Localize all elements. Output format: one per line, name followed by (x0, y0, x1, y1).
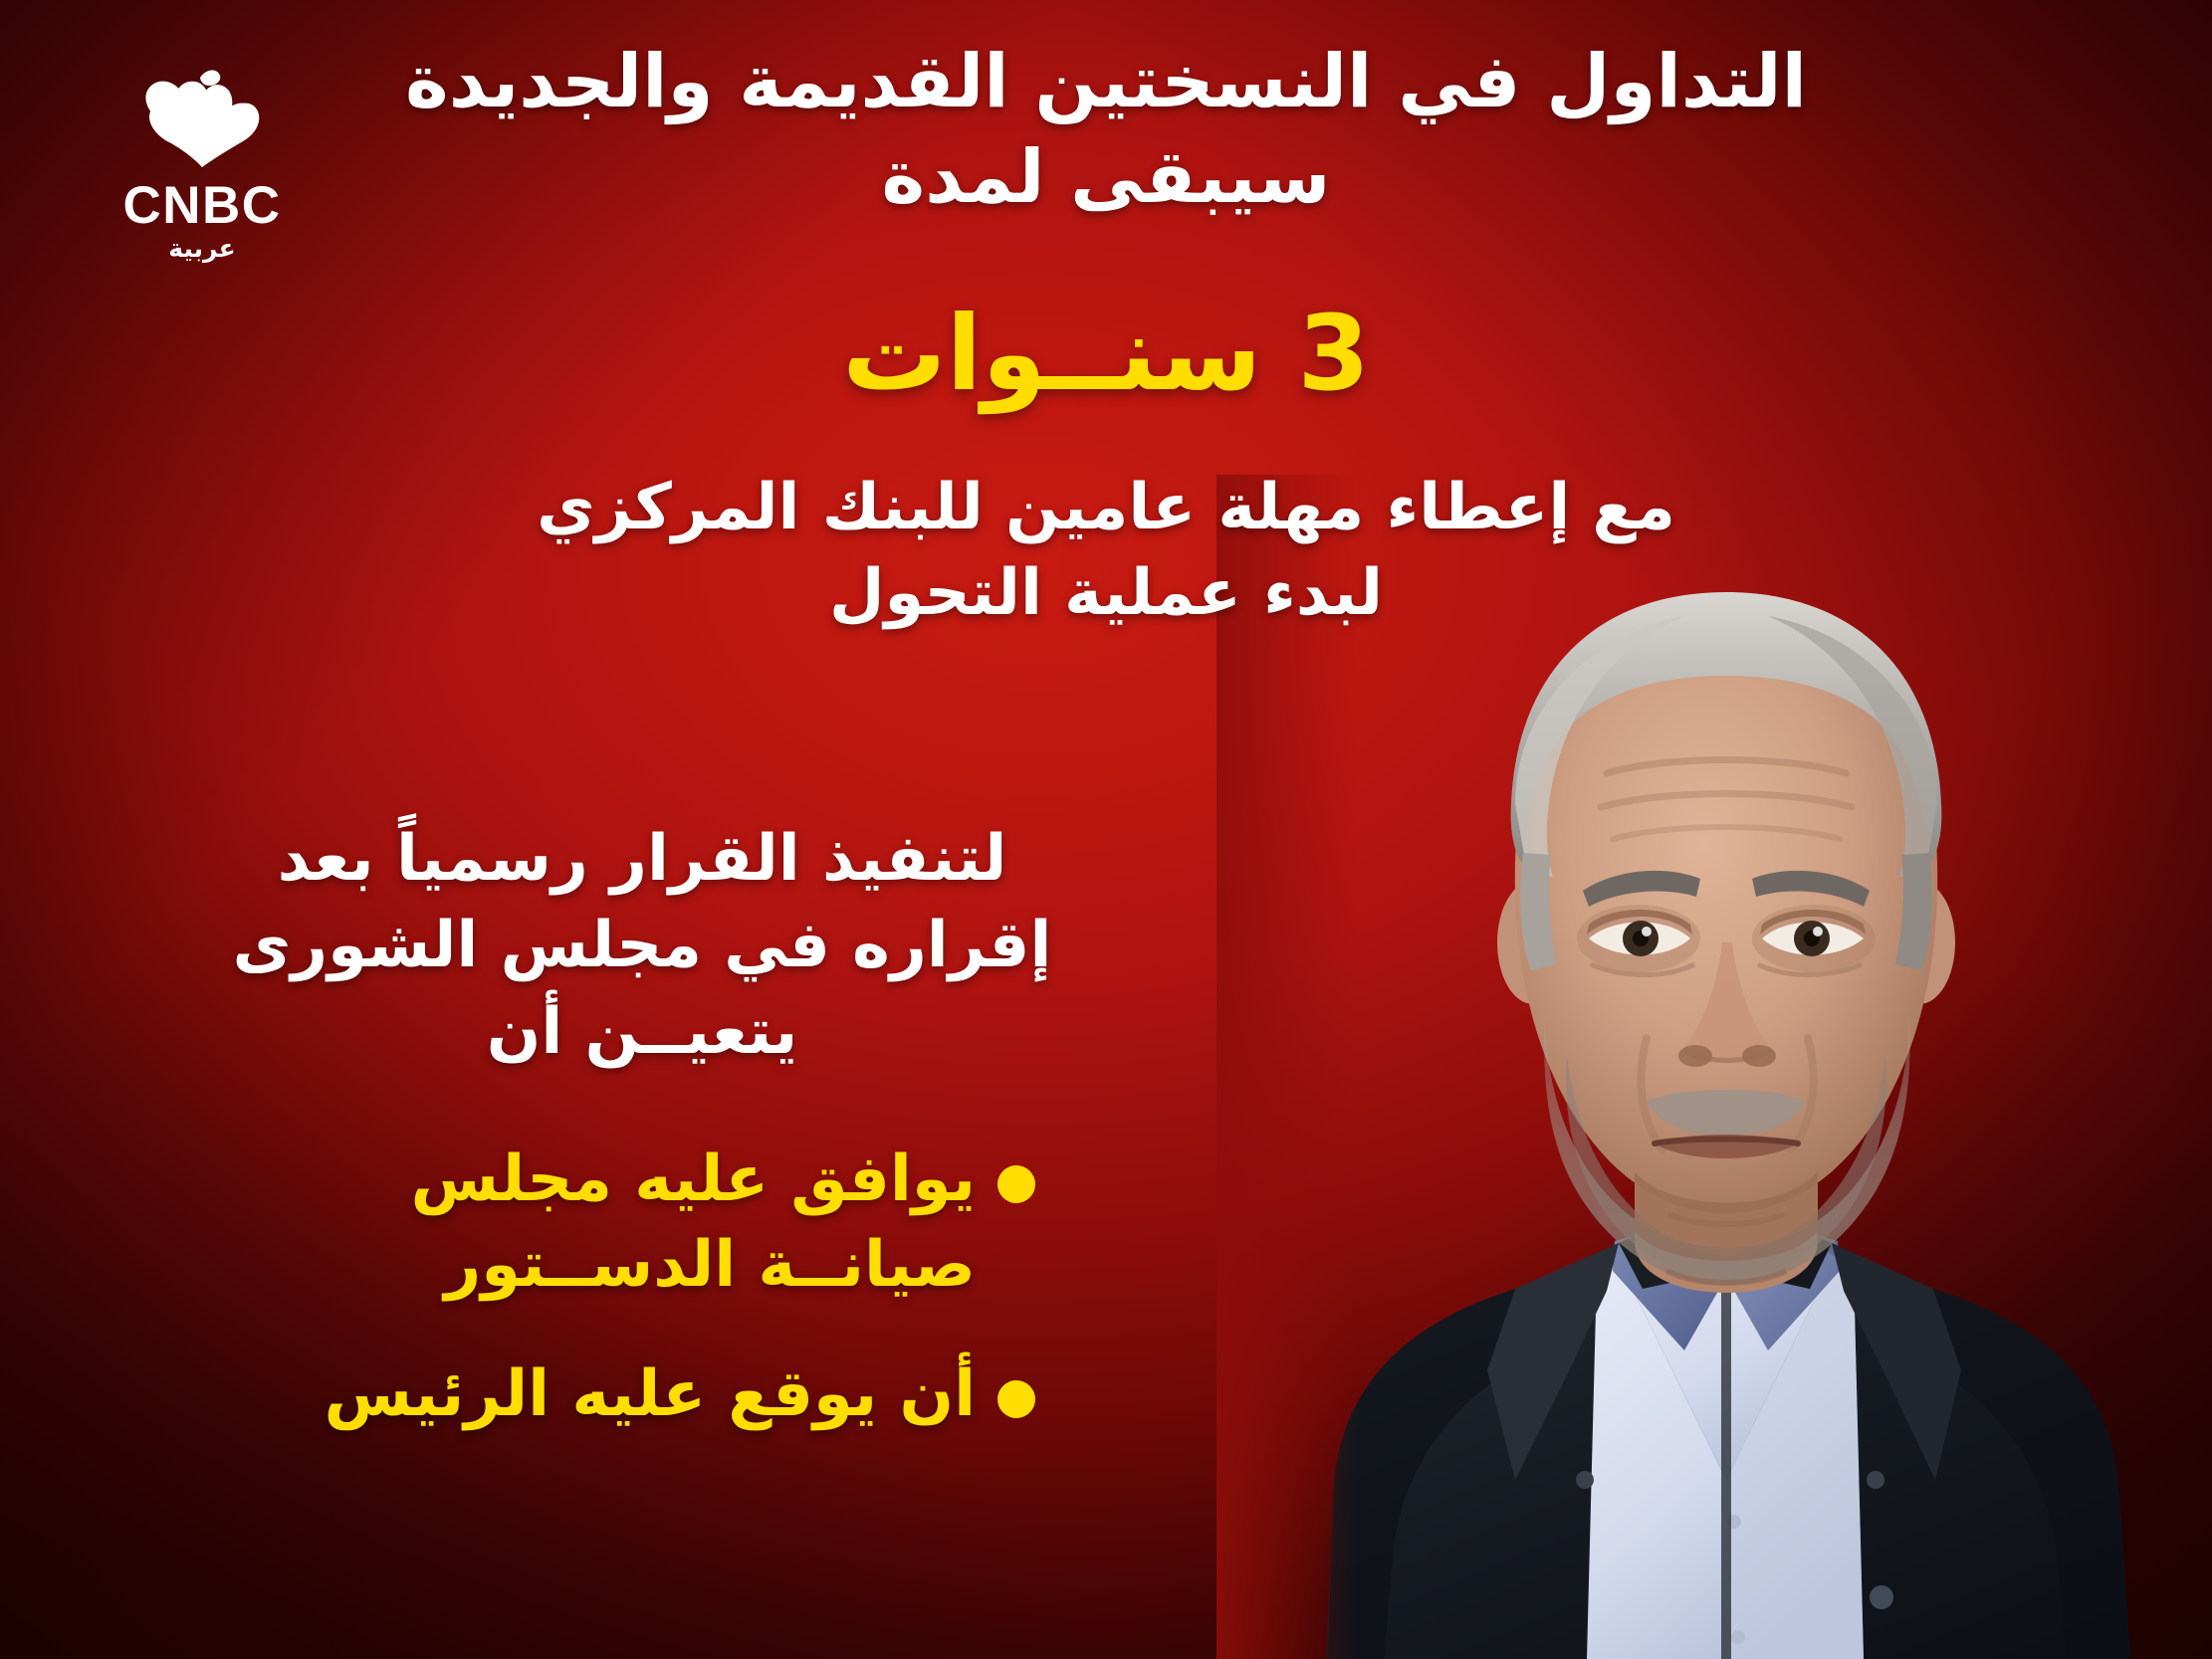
bullet-dot-icon (997, 1380, 1035, 1418)
portrait-photo (1217, 475, 2212, 1659)
subheadline: مع إعطاء مهلة عامين للبنك المركزي لبدء ع… (289, 466, 1923, 637)
body-line-2: إقراره في مجلس الشورى (119, 903, 1165, 989)
subheadline-line-2: لبدء عملية التحول (289, 551, 1923, 637)
body-line-3: يتعيــن أن (119, 989, 1165, 1076)
peacock-icon (88, 64, 317, 175)
headline: التداول في النسختين القديمة والجديدة سيب… (329, 34, 1883, 225)
logo-arabic-label: عربية (88, 236, 317, 261)
headline-line-2: سيبقى لمدة (329, 129, 1883, 225)
bullet-1-line-2: صيانــة الدســتور (444, 1228, 976, 1302)
bullet-dot-icon (997, 1165, 1035, 1203)
infographic-canvas: CNBC عربية التداول في النسختين القديمة و… (0, 0, 2212, 1659)
bullet-list: يوافق عليه مجلس صيانــة الدســتور أن يوق… (119, 1138, 1165, 1437)
bullet-text: يوافق عليه مجلس صيانــة الدســتور (119, 1138, 976, 1309)
list-item: أن يوقع عليه الرئيس (119, 1352, 1165, 1438)
subheadline-line-1: مع إعطاء مهلة عامين للبنك المركزي (289, 466, 1923, 551)
cnbc-arabia-logo[interactable]: CNBC عربية (88, 64, 317, 261)
logo-wordmark: CNBC (88, 179, 317, 232)
bullet-2-line-1: أن يوقع عليه الرئيس (325, 1357, 976, 1431)
bullet-1-line-1: يوافق عليه مجلس (411, 1142, 976, 1216)
headline-line-1: التداول في النسختين القديمة والجديدة (329, 34, 1883, 129)
highlight-value: 3 سنــوات (329, 297, 1883, 410)
bullet-text: أن يوقع عليه الرئيس (119, 1352, 976, 1438)
body-line-1: لتنفيذ القرار رسمياً بعد (119, 816, 1165, 903)
body-block: لتنفيذ القرار رسمياً بعد إقراره في مجلس … (119, 816, 1165, 1481)
list-item: يوافق عليه مجلس صيانــة الدســتور (119, 1138, 1165, 1309)
